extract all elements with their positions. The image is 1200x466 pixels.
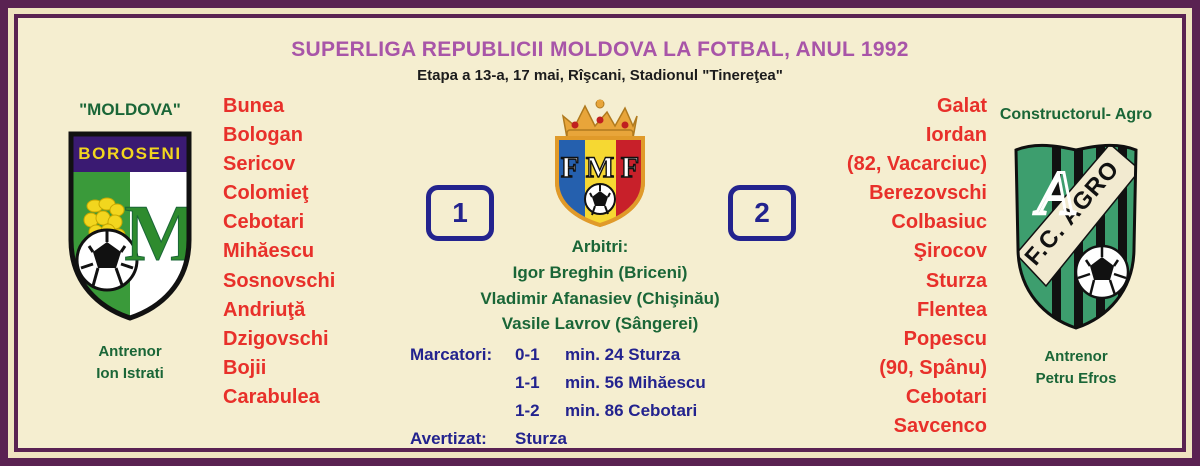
scorer-score: 0-1 [515, 345, 565, 365]
home-coach-name: Ion Istrati [30, 363, 230, 385]
away-team-panel: Constructorul- Agro [976, 18, 1176, 448]
booked-row: Avertizat: Sturza [410, 429, 706, 448]
scorer-text: min. 24 Sturza [565, 345, 680, 365]
away-club-name: Constructorul- Agro [976, 106, 1176, 124]
list-item: Carabulea [223, 383, 335, 412]
referees-block: Arbitri: Igor Breghin (Briceni) Vladimir… [18, 234, 1182, 337]
svg-text:F: F [621, 151, 639, 184]
away-coach: Antrenor Petru Efros [976, 346, 1176, 390]
away-coach-name: Petru Efros [976, 368, 1176, 390]
list-item: Bojii [223, 354, 335, 383]
list-item: (82, Vacarciuc) [847, 150, 987, 179]
svg-text:M: M [586, 151, 614, 184]
scorer-row: Marcatori: 0-1 min. 24 Sturza [410, 345, 706, 373]
poster-outer-border: SUPERLIGA REPUBLICII MOLDOVA LA FOTBAL, … [0, 0, 1200, 466]
list-item: Bologan [223, 121, 335, 150]
home-club-name: "MOLDOVA" [30, 100, 230, 120]
booked-player: Sturza [515, 429, 567, 448]
poster-middle-border: SUPERLIGA REPUBLICII MOLDOVA LA FOTBAL, … [8, 8, 1192, 458]
scorer-row: 1-1 min. 56 Mihăescu [410, 373, 706, 401]
referee-item: Vladimir Afanasiev (Chişinău) [18, 286, 1182, 312]
crown-icon [563, 100, 637, 139]
booked-label: Avertizat: [410, 429, 515, 448]
home-coach: Antrenor Ion Istrati [30, 341, 230, 385]
crest-banner-text: BOROSENI [78, 144, 181, 163]
home-coach-label: Antrenor [30, 341, 230, 363]
away-coach-label: Antrenor [976, 346, 1176, 368]
list-item: Colomieţ [223, 179, 335, 208]
scorer-text: min. 86 Cebotari [565, 401, 697, 421]
list-item: Sericov [223, 150, 335, 179]
away-score-box: 2 [728, 185, 796, 241]
crest-script-letter: A [1033, 160, 1076, 228]
football-icon [585, 184, 615, 215]
poster-inner-border: SUPERLIGA REPUBLICII MOLDOVA LA FOTBAL, … [14, 14, 1186, 452]
list-item: Berezovschi [847, 179, 987, 208]
scorer-score: 1-1 [515, 373, 565, 393]
list-item: Cebotari [847, 383, 987, 412]
scorer-row: 1-2 min. 86 Cebotari [410, 401, 706, 429]
referee-item: Igor Breghin (Briceni) [18, 260, 1182, 286]
scorers-label: Marcatori: [410, 345, 515, 365]
list-item: Savcenco [847, 412, 987, 441]
fmf-emblem-icon: F M F [541, 98, 659, 228]
list-item: Galat [847, 92, 987, 121]
poster-canvas: SUPERLIGA REPUBLICII MOLDOVA LA FOTBAL, … [18, 18, 1182, 448]
scorer-text: min. 56 Mihăescu [565, 373, 706, 393]
scorer-score: 1-2 [515, 401, 565, 421]
home-score-box: 1 [426, 185, 494, 241]
referees-label: Arbitri: [18, 234, 1182, 260]
referee-item: Vasile Lavrov (Sângerei) [18, 311, 1182, 337]
list-item: Iordan [847, 121, 987, 150]
federation-emblem: F M F [541, 98, 659, 233]
svg-text:F: F [561, 151, 579, 184]
list-item: Bunea [223, 92, 335, 121]
list-item: (90, Spânu) [847, 354, 987, 383]
home-team-panel: "MOLDOVA" [30, 18, 230, 448]
match-events-block: Marcatori: 0-1 min. 24 Sturza 1-1 min. 5… [410, 345, 706, 448]
